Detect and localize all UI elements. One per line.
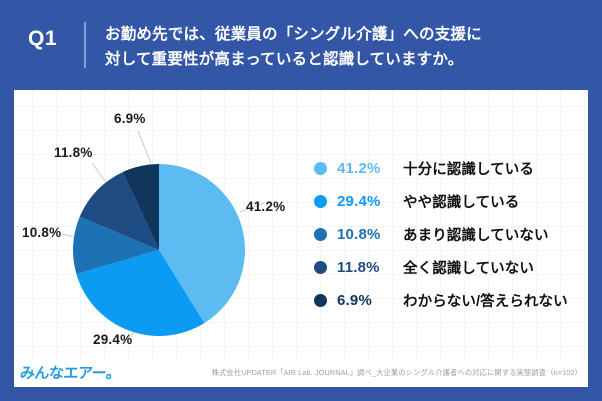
question-text-line-1: お勤め先では、従業員の「シングル介護」への支援に xyxy=(105,22,575,47)
legend-percent-3: 11.8% xyxy=(337,259,403,276)
chart-card: 41.2% 29.4% 10.8% 11.8% 6.9% 41.2% 十分に認識… xyxy=(14,90,588,387)
legend-swatch-icon-3 xyxy=(314,261,327,274)
chart-legend: 41.2% 十分に認識している 29.4% やや認識している 10.8% あまり… xyxy=(314,152,588,317)
legend-label-3: 全く認識していない xyxy=(403,257,534,278)
legend-percent-1: 29.4% xyxy=(337,193,403,210)
pie-slices xyxy=(73,164,245,336)
pie-value-label-2: 10.8% xyxy=(22,225,61,240)
legend-swatch-icon-4 xyxy=(314,294,327,307)
slide-footer: みんなエアー。 株式会社UPDATER「AIR Lab. JOURNAL」調べ_… xyxy=(14,360,588,387)
question-header: Q1 お勤め先では、従業員の「シングル介護」への支援に 対して重要性が高まってい… xyxy=(0,0,602,90)
pie-value-label-0: 41.2% xyxy=(246,199,285,214)
legend-percent-0: 41.2% xyxy=(337,160,403,177)
legend-item-0[interactable]: 41.2% 十分に認識している xyxy=(314,152,588,185)
question-text-line-2: 対して重要性が高まっていると認識していますか。 xyxy=(105,47,575,72)
legend-item-1[interactable]: 29.4% やや認識している xyxy=(314,185,588,218)
legend-swatch-icon-1 xyxy=(314,195,327,208)
pie-value-label-4: 6.9% xyxy=(114,111,146,126)
legend-label-4: わからない/答えられない xyxy=(403,290,568,311)
header-divider xyxy=(84,22,86,68)
legend-label-2: あまり認識していない xyxy=(403,224,549,245)
legend-percent-2: 10.8% xyxy=(337,226,403,243)
legend-item-4[interactable]: 6.9% わからない/答えられない xyxy=(314,284,588,317)
legend-swatch-icon-0 xyxy=(314,162,327,175)
legend-percent-4: 6.9% xyxy=(337,292,403,309)
slide-container: Q1 お勤め先では、従業員の「シングル介護」への支援に 対して重要性が高まってい… xyxy=(0,0,602,401)
legend-label-1: やや認識している xyxy=(403,191,519,212)
legend-item-2[interactable]: 10.8% あまり認識していない xyxy=(314,218,588,251)
pie-value-label-3: 11.8% xyxy=(54,145,93,160)
brand-logo[interactable]: みんなエアー。 xyxy=(19,362,121,383)
source-note: 株式会社UPDATER「AIR Lab. JOURNAL」調べ_大企業のシングル… xyxy=(212,368,582,378)
pie-chart: 41.2% 29.4% 10.8% 11.8% 6.9% xyxy=(14,90,314,370)
leader-line-4 xyxy=(138,131,151,163)
question-number: Q1 xyxy=(28,28,88,49)
legend-item-3[interactable]: 11.8% 全く認識していない xyxy=(314,251,588,284)
question-text: お勤め先では、従業員の「シングル介護」への支援に 対して重要性が高まっていると認… xyxy=(105,22,575,72)
legend-label-0: 十分に認識している xyxy=(403,158,534,179)
legend-swatch-icon-2 xyxy=(314,228,327,241)
pie-value-label-1: 29.4% xyxy=(93,332,132,347)
